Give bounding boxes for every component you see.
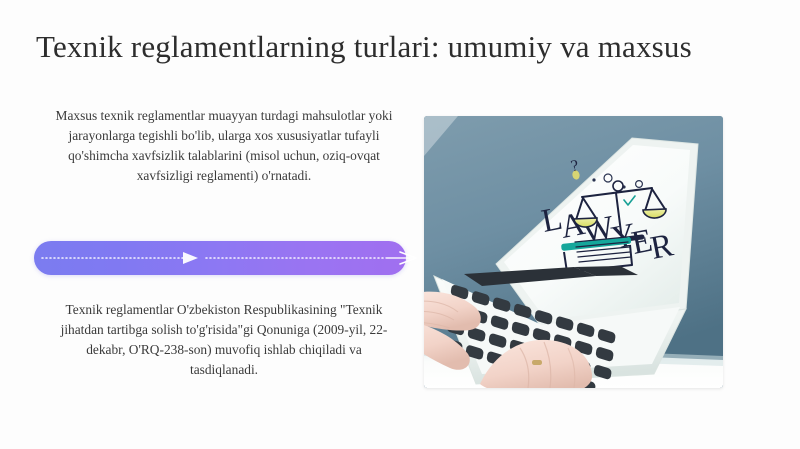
page-title: Texnik reglamentlarning turlari: umumiy … <box>36 26 776 68</box>
lawyer-laptop-photo: L A W Y E R ? <box>424 116 723 388</box>
left-content-column: Maxsus texnik reglamentlar muayyan turda… <box>34 106 414 416</box>
banner-arrow-icon <box>34 241 434 275</box>
paragraph-top: Maxsus texnik reglamentlar muayyan turda… <box>34 106 414 186</box>
paragraph-bottom: Texnik reglamentlar O'zbekiston Respubli… <box>34 300 414 380</box>
gradient-arrow-banner <box>34 241 406 275</box>
slide-canvas: Texnik reglamentlarning turlari: umumiy … <box>0 0 800 449</box>
laptop-illustration: L A W Y E R ? <box>424 116 723 388</box>
